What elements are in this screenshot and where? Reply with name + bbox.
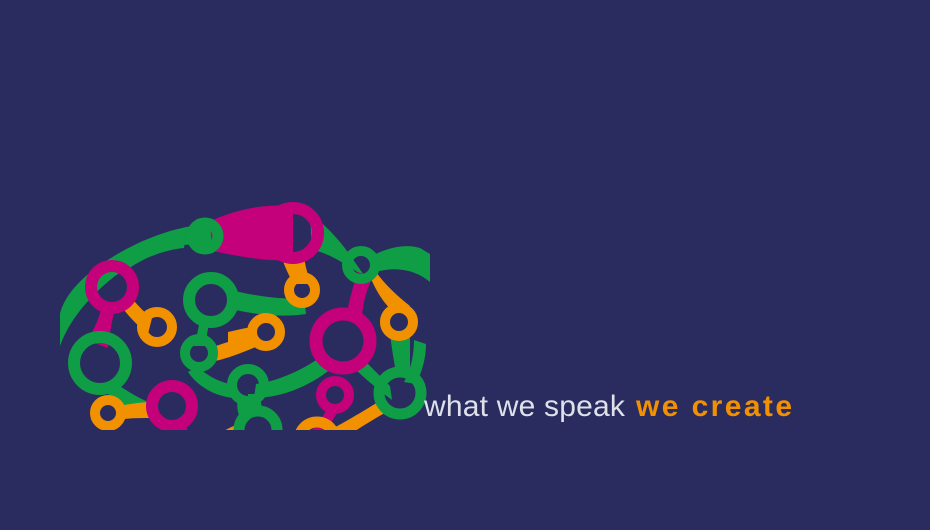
node-n16 <box>95 400 121 426</box>
node-n15 <box>152 386 192 426</box>
node-n04 <box>347 251 375 279</box>
brain-network-svg <box>60 100 430 430</box>
node-n12 <box>252 318 280 346</box>
splash-screen: what we speak we create <box>0 0 930 530</box>
tagline-light-text: what we speak <box>424 392 625 422</box>
node-n07 <box>316 314 370 368</box>
link-n04-right-arc <box>372 246 430 282</box>
node-n05 <box>385 308 413 336</box>
node-n09 <box>142 312 172 342</box>
tagline: what we speak we create <box>424 392 854 434</box>
node-n18 <box>239 411 277 430</box>
node-n14 <box>232 369 264 401</box>
node-n13 <box>185 339 213 367</box>
node-n03 <box>289 277 315 303</box>
brain-network-logo <box>60 100 430 430</box>
node-n11 <box>189 278 233 322</box>
tagline-accent-text: we create <box>636 392 794 422</box>
node-n19 <box>321 381 349 409</box>
